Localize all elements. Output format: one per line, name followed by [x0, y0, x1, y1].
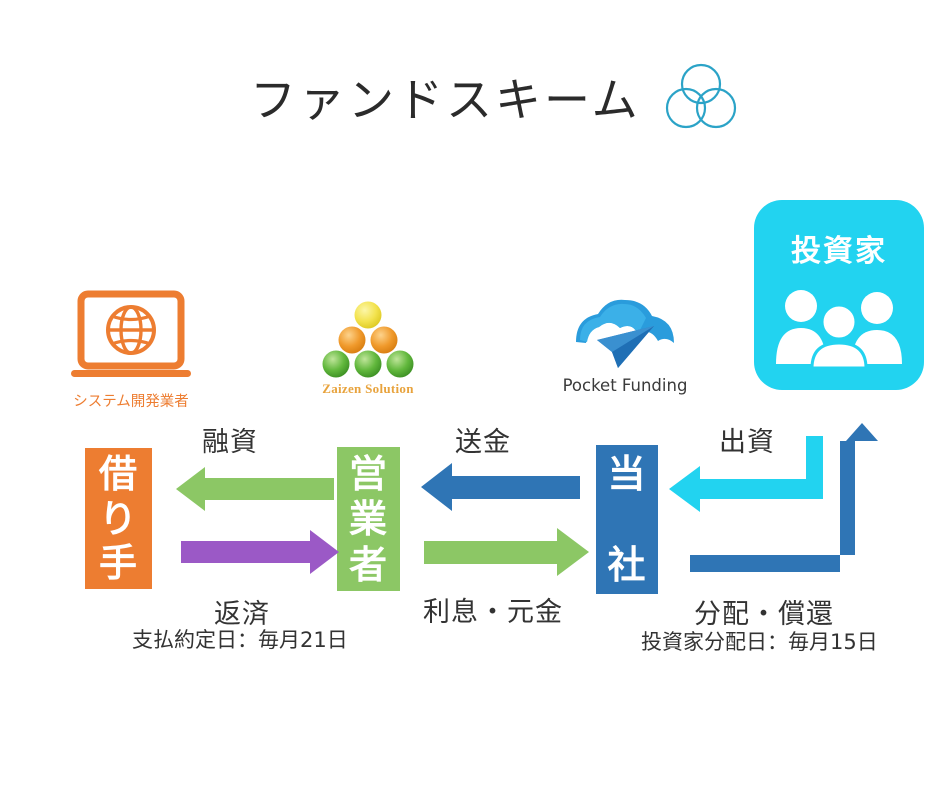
zaizen-solution-label: Zaizen Solution — [312, 381, 424, 397]
note-payment-due: 支払約定日：毎月21日 — [132, 624, 348, 654]
box-borrower: 借 り 手 — [85, 448, 152, 589]
three-circles-venn-icon — [659, 62, 743, 132]
box-borrower-char-1: 借 — [99, 455, 138, 493]
box-operator: 営 業 者 — [337, 447, 400, 591]
zaizen-solution-actor: Zaizen Solution — [312, 300, 424, 397]
label-investment: 出資 — [719, 420, 775, 459]
note-investor-distribution: 投資家分配日：毎月15日 — [641, 626, 878, 656]
box-borrower-char-2: り — [99, 500, 138, 538]
label-loan: 融資 — [202, 420, 258, 459]
arrow-remittance — [421, 463, 580, 511]
box-company-char-2: 社 — [607, 546, 646, 584]
box-company-char-1: 当 — [607, 455, 646, 493]
label-remittance: 送金 — [455, 420, 511, 459]
box-operator-char-2: 業 — [349, 500, 388, 538]
arrow-repayment — [181, 530, 339, 574]
box-borrower-char-3: 手 — [99, 544, 138, 582]
laptop-globe-icon — [56, 288, 206, 388]
pocket-funding-label: Pocket Funding — [560, 376, 690, 395]
system-developer-actor: システム開発業者 — [56, 288, 206, 411]
box-operator-char-3: 者 — [349, 546, 388, 584]
investor-tile: 投資家 — [754, 200, 924, 390]
page-title: ファンドスキーム — [250, 64, 641, 130]
box-company: 当 社 — [596, 445, 658, 594]
page-title-row: ファンドスキーム — [250, 62, 743, 132]
system-developer-label: システム開発業者 — [56, 390, 206, 411]
diagram-canvas: ファンドスキーム システム開発業者 — [0, 0, 945, 790]
sphere-pyramid-logo-icon — [312, 300, 424, 380]
cloud-paper-plane-logo-icon — [560, 296, 690, 374]
pocket-funding-actor: Pocket Funding — [560, 296, 690, 395]
box-operator-char-1: 営 — [349, 455, 388, 493]
arrow-loan — [176, 467, 334, 511]
investor-label: 投資家 — [754, 226, 924, 270]
arrow-interest — [424, 528, 589, 576]
label-interest: 利息・元金 — [423, 590, 563, 629]
